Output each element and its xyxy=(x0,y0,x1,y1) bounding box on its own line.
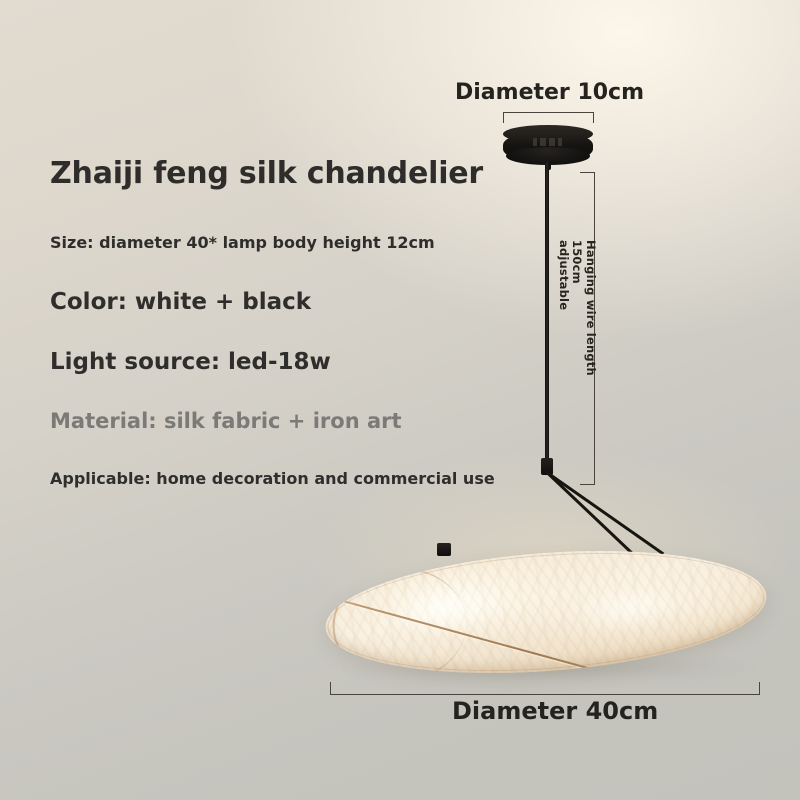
hanging-wire-icon xyxy=(545,162,549,470)
spec-size: Size: diameter 40* lamp body height 12cm xyxy=(50,233,435,252)
canopy-brand-mark xyxy=(533,138,565,146)
silk-shade-icon xyxy=(325,553,767,671)
page-title: Zhaiji feng silk chandelier xyxy=(50,156,483,191)
spec-color: Color: white + black xyxy=(50,289,311,315)
spec-light-source: Light source: led-18w xyxy=(50,349,331,375)
product-photo-scene: Zhaiji feng silk chandelier Size: diamet… xyxy=(0,0,800,800)
wire-length-line-2: adjustable xyxy=(556,240,570,422)
spec-applicable: Applicable: home decoration and commerci… xyxy=(50,469,495,488)
canopy-diameter-bracket xyxy=(503,112,594,123)
shade-diameter-label: Diameter 40cm xyxy=(452,697,658,725)
spec-material: Material: silk fabric + iron art xyxy=(50,409,402,433)
shade-diameter-bracket xyxy=(330,682,760,695)
canopy-diameter-label: Diameter 10cm xyxy=(455,80,644,105)
wire-length-label: Hanging wire length 150cm adjustable xyxy=(556,240,597,422)
shade-disc xyxy=(321,537,770,687)
wire-length-line-1: Hanging wire length 150cm xyxy=(570,240,597,422)
